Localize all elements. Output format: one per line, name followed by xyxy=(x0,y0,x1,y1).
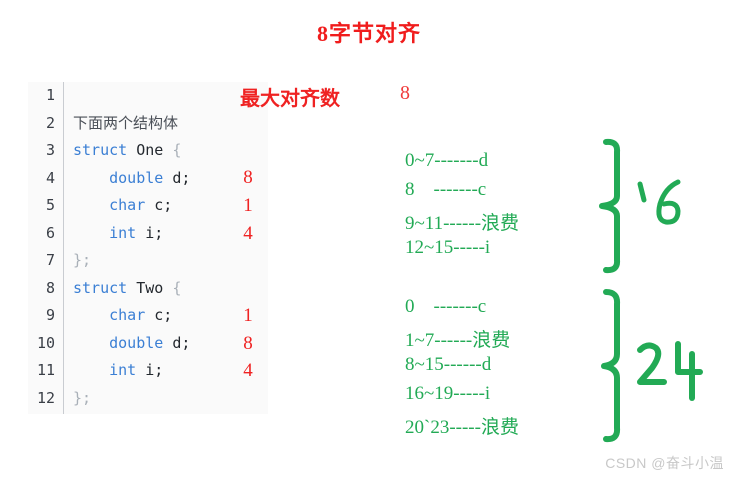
line-number: 11 xyxy=(28,357,55,385)
handwritten-total-one xyxy=(632,178,690,228)
layout-two-row-0: 0 -------c xyxy=(405,296,486,318)
member-i: i; xyxy=(145,224,163,242)
handwritten-brace-two xyxy=(596,288,642,444)
handwritten-brace-one xyxy=(588,138,638,274)
code-line-8: struct Two { xyxy=(73,275,268,303)
keyword-struct: struct xyxy=(73,141,127,159)
member-d: d; xyxy=(172,169,190,187)
line-number: 1 xyxy=(28,82,55,110)
keyword-double: double xyxy=(109,169,163,187)
layout-one-row-0: 0~7-------d xyxy=(405,150,488,172)
code-line-12: }; xyxy=(73,385,268,413)
member-size-two-i: 4 xyxy=(238,360,258,382)
keyword-char: char xyxy=(109,306,145,324)
code-line-7: }; xyxy=(73,247,268,275)
layout-two-row-4: 20`23-----浪费 xyxy=(405,412,519,439)
line-number: 3 xyxy=(28,137,55,165)
handwritten-total-two xyxy=(634,340,706,402)
layout-two-row-3: 16~19-----i xyxy=(405,383,490,405)
code-comment: 下面两个结构体 xyxy=(73,116,178,132)
max-alignment-label: 最大对齐数 xyxy=(240,82,340,111)
layout-two-row-1: 1~7------浪费 xyxy=(405,325,510,352)
brace-open: { xyxy=(172,141,181,159)
brace-close: }; xyxy=(73,251,91,269)
brace-open: { xyxy=(172,279,181,297)
layout-one-row-2: 9~11------浪费 xyxy=(405,208,519,235)
brace-close: }; xyxy=(73,389,91,407)
keyword-int: int xyxy=(109,361,136,379)
keyword-int: int xyxy=(109,224,136,242)
line-number: 6 xyxy=(28,220,55,248)
struct-name-one: One xyxy=(136,141,163,159)
line-number: 8 xyxy=(28,275,55,303)
layout-one-row-3: 12~15-----i xyxy=(405,237,490,259)
member-c: c; xyxy=(154,306,172,324)
line-number: 2 xyxy=(28,110,55,138)
line-number: 4 xyxy=(28,165,55,193)
line-number-gutter: 1 2 3 4 5 6 7 8 9 10 11 12 xyxy=(28,82,64,414)
keyword-struct: struct xyxy=(73,279,127,297)
keyword-char: char xyxy=(109,196,145,214)
code-line-2: 下面两个结构体 xyxy=(73,110,268,138)
member-d: d; xyxy=(172,334,190,352)
struct-name-two: Two xyxy=(136,279,163,297)
keyword-double: double xyxy=(109,334,163,352)
member-i: i; xyxy=(145,361,163,379)
line-number: 10 xyxy=(28,330,55,358)
layout-one-row-1: 8 -------c xyxy=(405,179,486,201)
member-size-one-d: 8 xyxy=(238,167,258,189)
code-block: 1 2 3 4 5 6 7 8 9 10 11 12 下面两个结构体 struc… xyxy=(28,82,268,414)
member-size-one-c: 1 xyxy=(238,195,258,217)
member-c: c; xyxy=(154,196,172,214)
line-number: 9 xyxy=(28,302,55,330)
member-size-two-c: 1 xyxy=(238,305,258,327)
watermark: CSDN @奋斗小温 xyxy=(605,453,724,473)
page-title: 8字节对齐 xyxy=(0,16,738,48)
max-alignment-value: 8 xyxy=(400,82,410,105)
layout-two-row-2: 8~15------d xyxy=(405,354,491,376)
code-line-1 xyxy=(73,82,268,110)
line-number: 12 xyxy=(28,385,55,413)
line-number: 5 xyxy=(28,192,55,220)
code-line-3: struct One { xyxy=(73,137,268,165)
line-number: 7 xyxy=(28,247,55,275)
member-size-one-i: 4 xyxy=(238,223,258,245)
member-size-two-d: 8 xyxy=(238,333,258,355)
